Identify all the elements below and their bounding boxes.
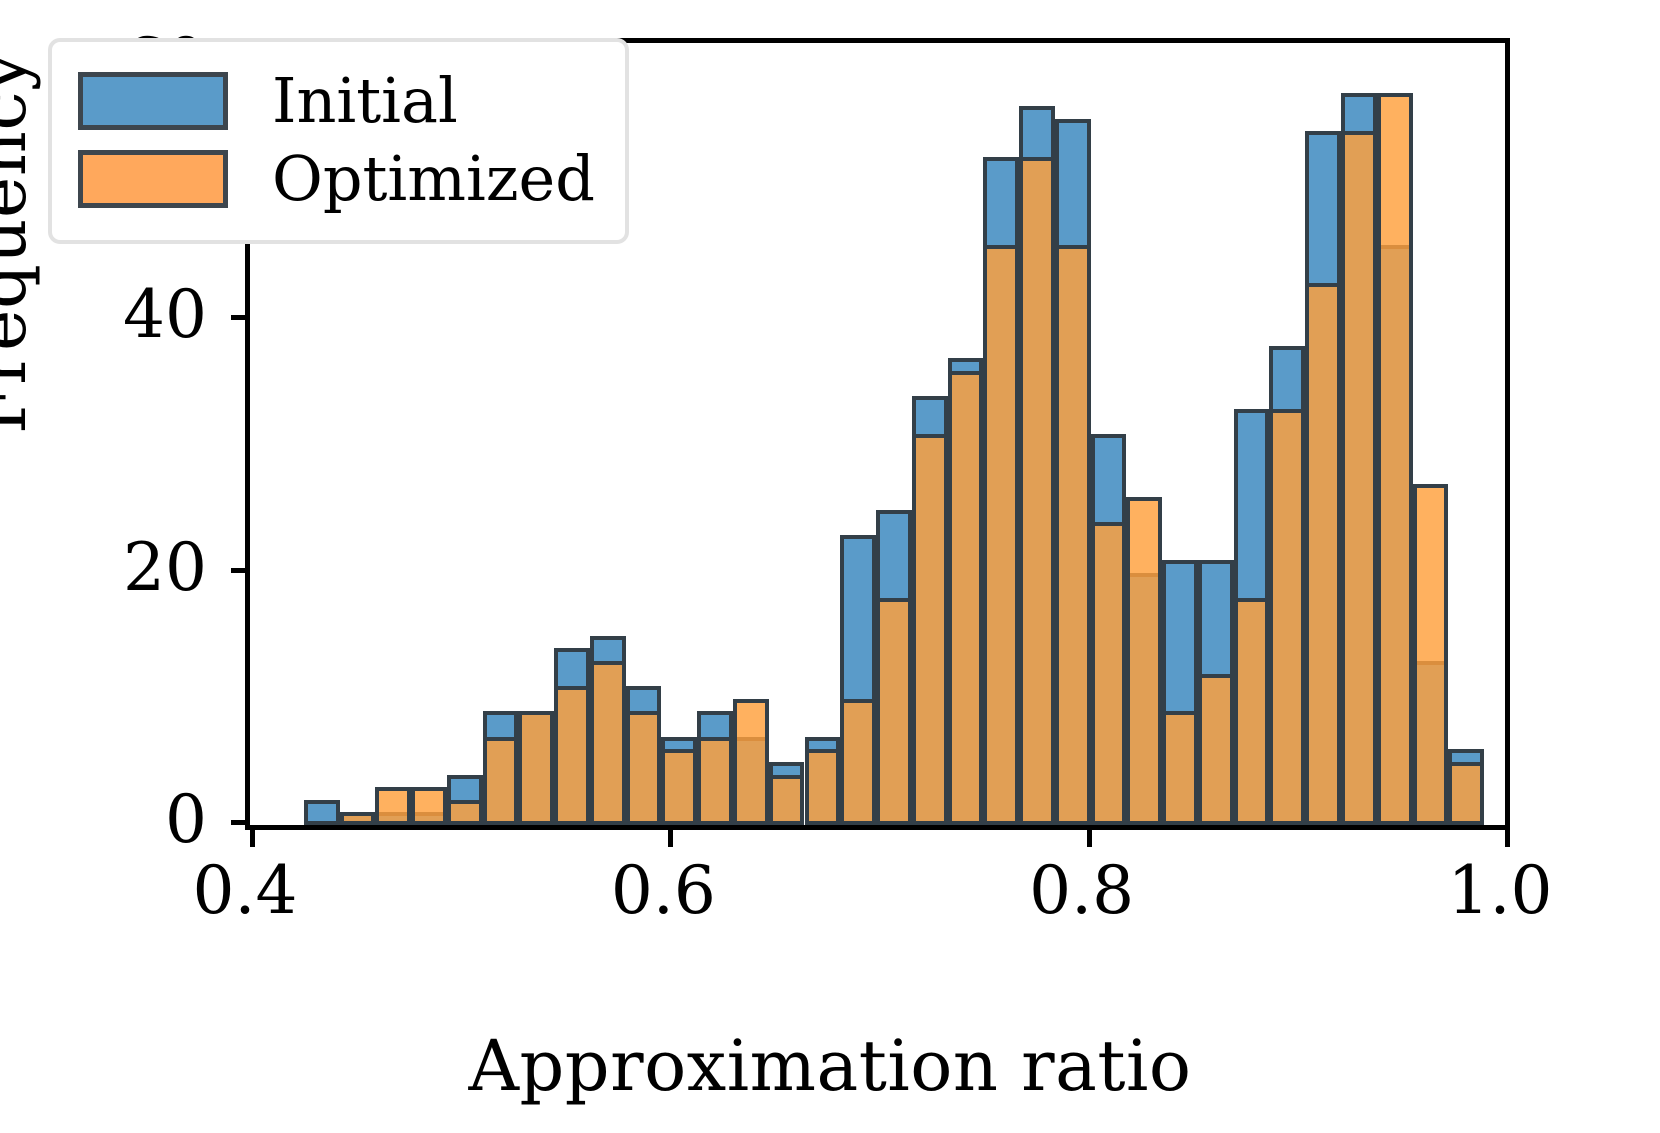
histogram-bar-optimized: [1448, 762, 1484, 825]
histogram-bar-optimized: [697, 737, 733, 825]
histogram-bar-optimized: [1377, 93, 1413, 825]
y-axis-tick: [231, 568, 250, 573]
legend-label-optimized: Optimized: [272, 148, 595, 210]
x-axis-tick: [668, 825, 673, 847]
histogram-bar-optimized: [1091, 522, 1127, 825]
histogram-bar-optimized: [661, 749, 697, 825]
histogram-bar-optimized: [1198, 674, 1234, 825]
histogram-bar-initial: [304, 800, 340, 825]
histogram-bar-optimized: [1341, 131, 1377, 825]
histogram-bar-optimized: [769, 775, 805, 825]
histogram-bar-optimized: [983, 245, 1019, 825]
x-axis-tick: [250, 825, 255, 847]
histogram-bar-optimized: [375, 787, 411, 825]
histogram-bar-optimized: [1234, 598, 1270, 825]
histogram-bar-optimized: [447, 800, 483, 825]
histogram-bar-optimized: [912, 434, 948, 825]
y-axis-tick: [231, 315, 250, 320]
legend-label-initial: Initial: [272, 70, 458, 132]
histogram-bar-optimized: [518, 711, 554, 825]
legend: Initial Optimized: [48, 38, 629, 244]
histogram-bar-optimized: [840, 699, 876, 825]
histogram-bar-optimized: [1126, 497, 1162, 825]
x-axis-title: Approximation ratio: [0, 1025, 1660, 1107]
histogram-bar-optimized: [590, 661, 626, 825]
y-axis-title: Frequency: [0, 51, 42, 434]
x-axis-tick: [1087, 825, 1092, 847]
histogram-bar-optimized: [805, 749, 841, 825]
histogram-bar-optimized: [411, 787, 447, 825]
histogram-bar-optimized: [733, 699, 769, 825]
histogram-figure: Frequency Approximation ratio 0204060 0.…: [0, 0, 1660, 1133]
y-tick-label: 40: [0, 282, 207, 348]
histogram-bar-optimized: [1162, 711, 1198, 825]
y-tick-label: 0: [0, 787, 207, 853]
y-tick-label: 20: [0, 535, 207, 601]
histogram-bar-optimized: [1269, 409, 1305, 825]
histogram-bar-optimized: [554, 686, 590, 825]
histogram-bar-optimized: [1055, 245, 1091, 825]
x-tick-label: 1.0: [1448, 858, 1553, 924]
x-axis-tick: [1505, 825, 1510, 847]
legend-swatch-optimized-icon: [78, 150, 228, 208]
histogram-bar-optimized: [876, 598, 912, 825]
legend-item-initial[interactable]: Initial: [78, 62, 595, 140]
legend-swatch-initial-icon: [78, 72, 228, 130]
histogram-bar-optimized: [340, 812, 376, 825]
histogram-bar-optimized: [626, 711, 662, 825]
x-tick-label: 0.8: [1029, 858, 1134, 924]
y-axis-tick: [231, 820, 250, 825]
x-tick-label: 0.4: [193, 858, 298, 924]
histogram-bar-optimized: [948, 371, 984, 825]
histogram-bar-optimized: [1305, 283, 1341, 825]
histogram-bar-optimized: [1019, 157, 1055, 825]
x-tick-label: 0.6: [611, 858, 716, 924]
legend-item-optimized[interactable]: Optimized: [78, 140, 595, 218]
histogram-bar-optimized: [483, 737, 519, 825]
histogram-bar-optimized: [1413, 484, 1449, 825]
